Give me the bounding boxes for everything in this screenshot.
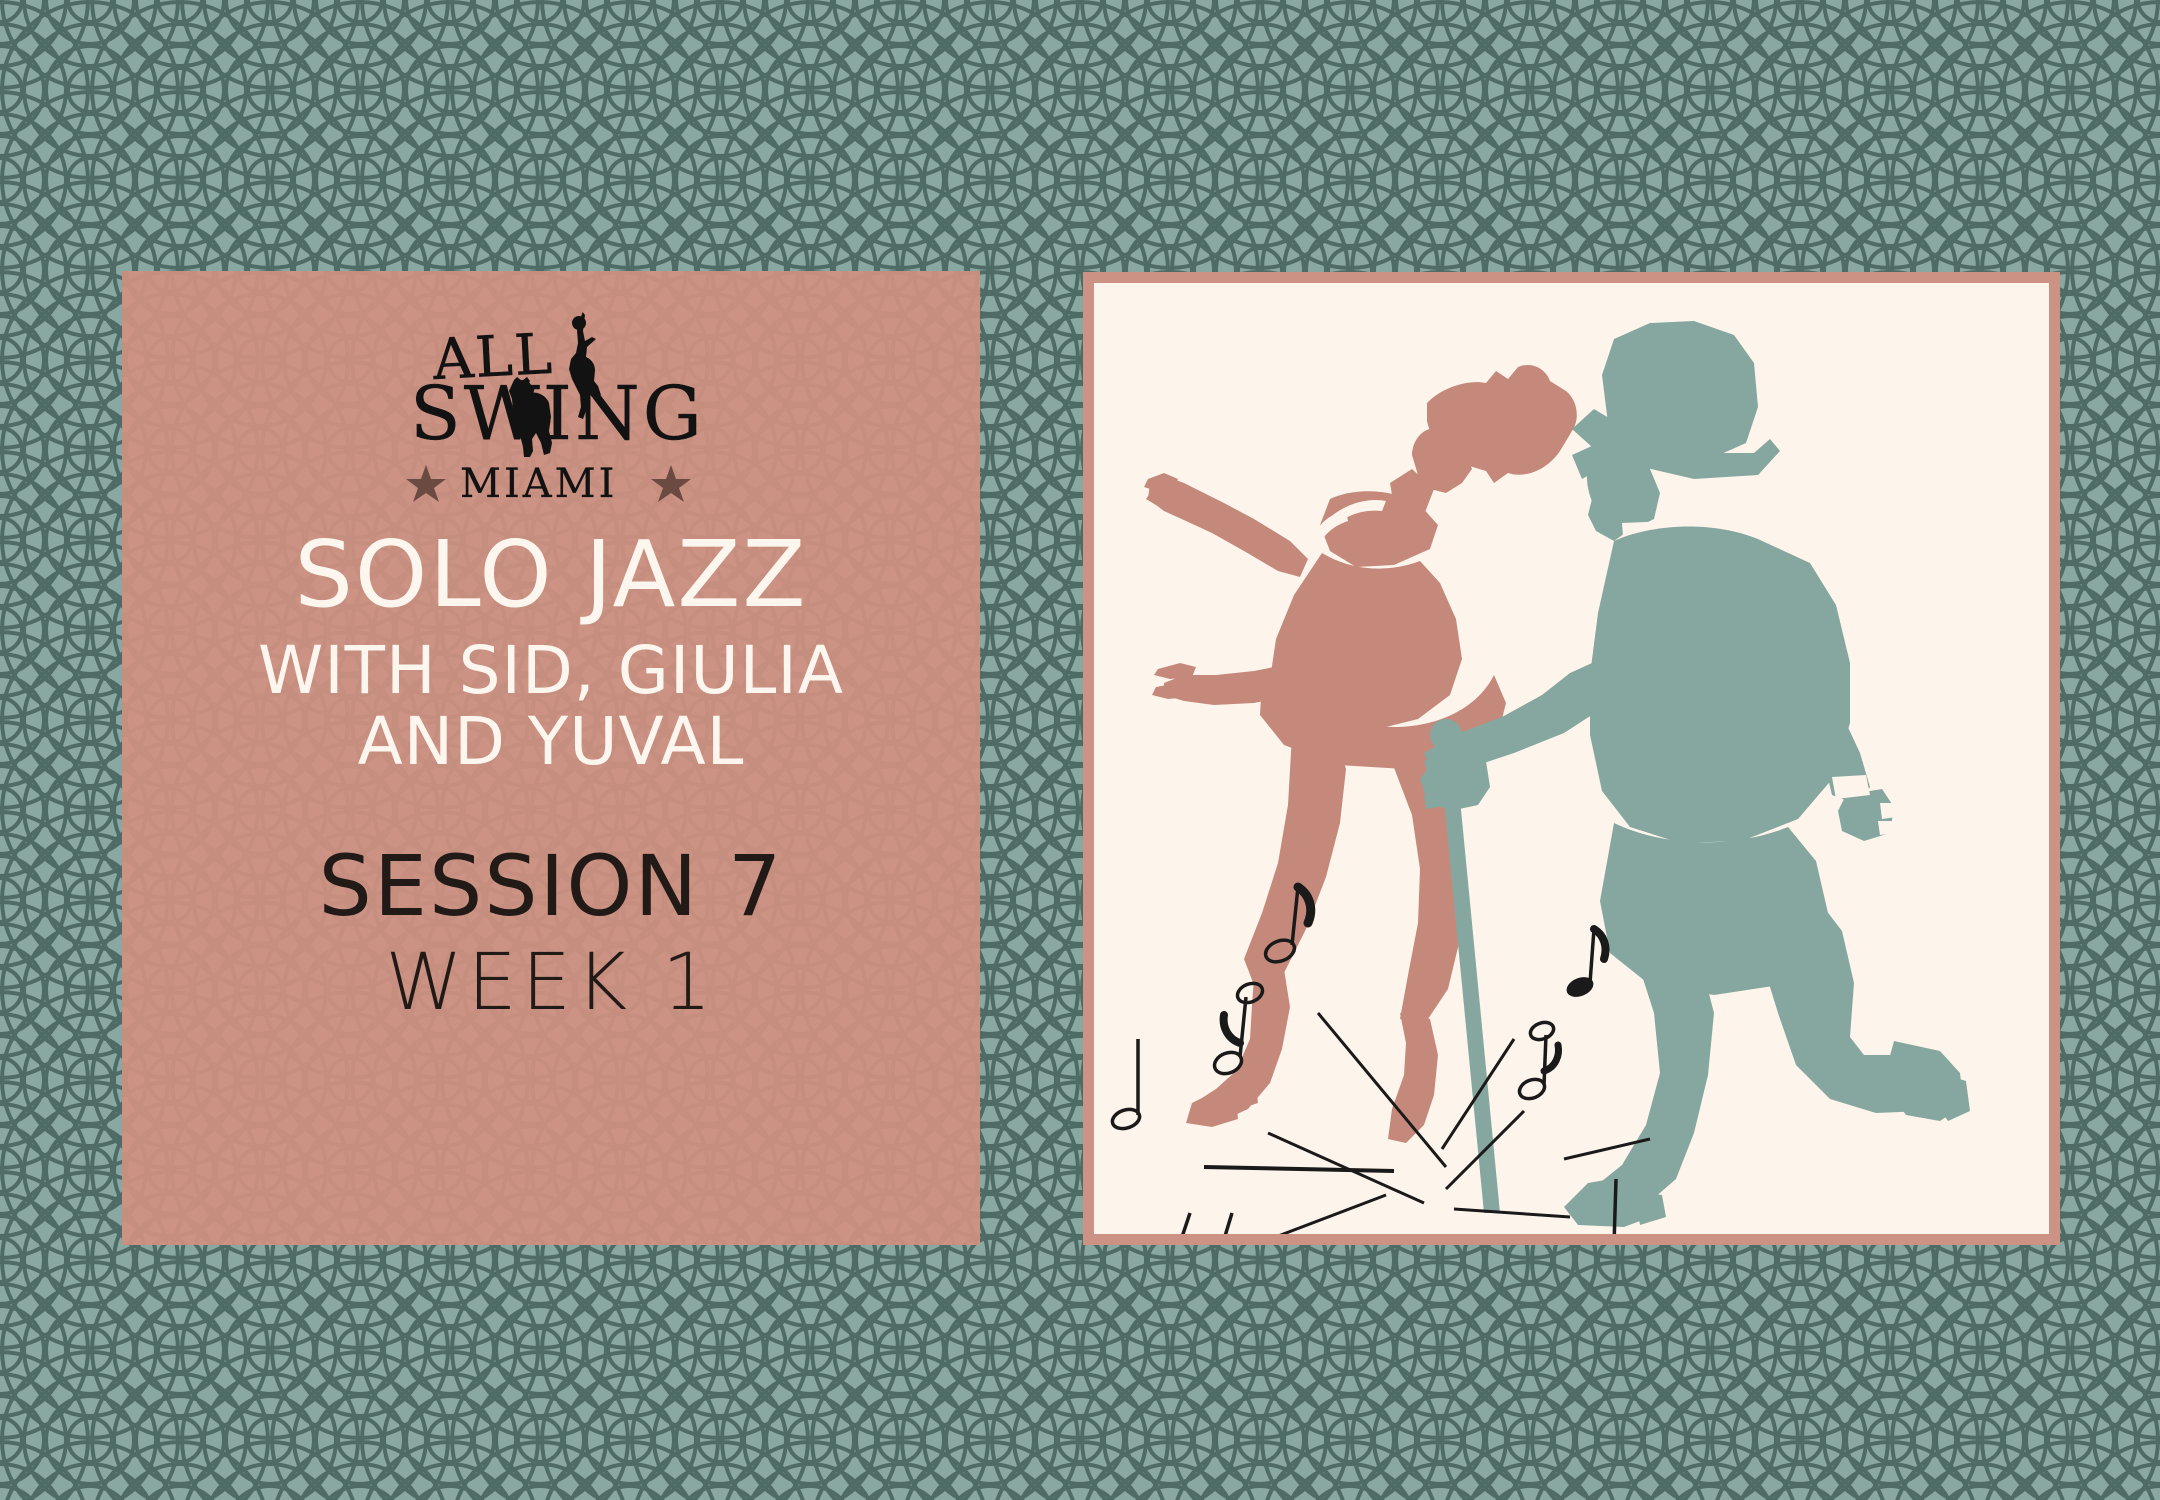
- session-label: SESSION 7: [319, 844, 784, 928]
- logo-star-right-icon: [651, 465, 691, 502]
- artwork-card: [1083, 272, 2060, 1245]
- artwork-inner: [1094, 283, 2049, 1234]
- all-swing-miami-logo: ALL SWING: [386, 307, 716, 507]
- page-title: SOLO JAZZ: [258, 529, 844, 621]
- logo-star-left-icon: [406, 465, 446, 502]
- session-block: SESSION 7 WEEK 1: [319, 844, 784, 1022]
- logo-text-swing: SWING: [410, 371, 705, 457]
- poster-canvas: ALL SWING: [0, 0, 2160, 1500]
- svg-text:SWING: SWING: [410, 371, 705, 457]
- logo-text-miami: MIAMI: [460, 461, 617, 507]
- headline-subtitle-line-2: AND YUVAL: [258, 706, 844, 777]
- headline-subtitle-line-1: WITH SID, GIULIA: [258, 635, 844, 706]
- info-card: ALL SWING: [122, 271, 980, 1245]
- week-label: WEEK 1: [319, 944, 784, 1022]
- headline-block: SOLO JAZZ WITH SID, GIULIA AND YUVAL: [258, 529, 844, 778]
